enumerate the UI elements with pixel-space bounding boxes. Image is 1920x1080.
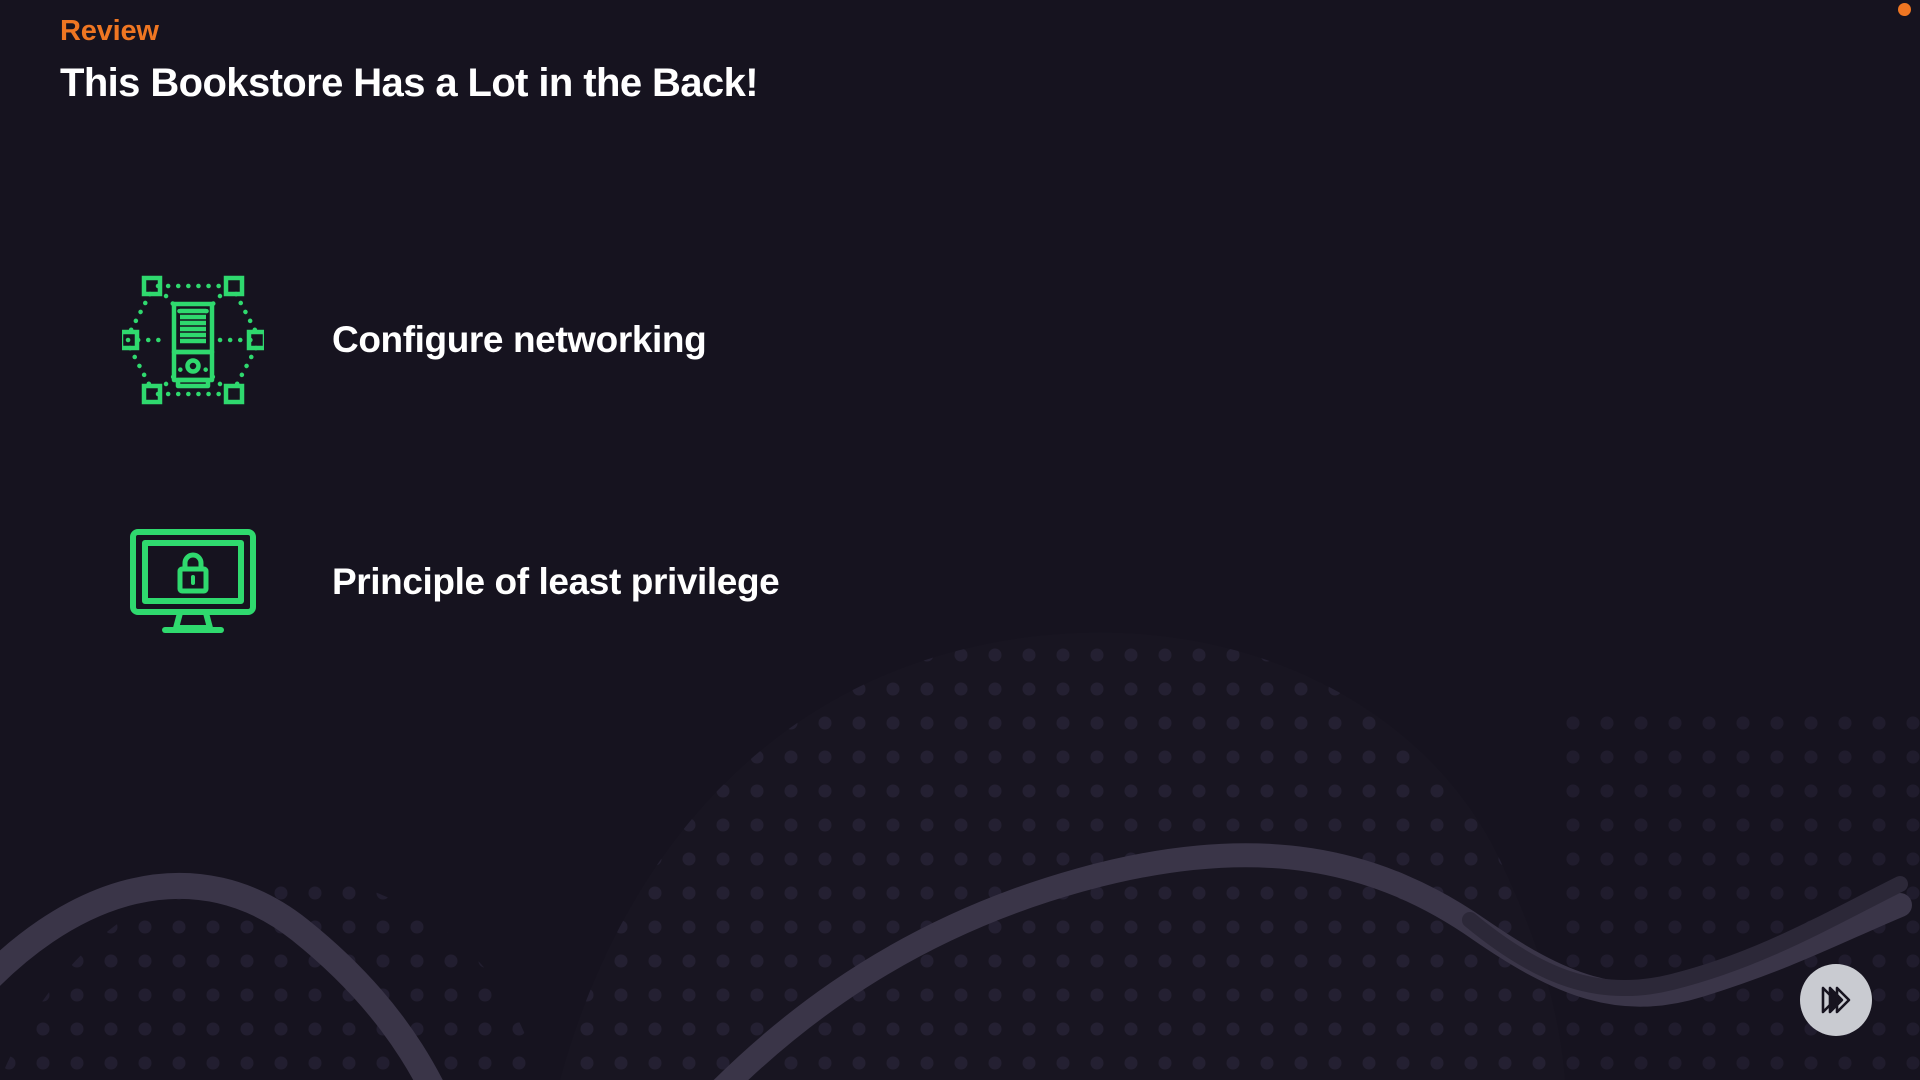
slide-header: Review This Bookstore Has a Lot in the B…	[60, 16, 758, 108]
halftone-blob-small	[0, 840, 600, 1080]
padlock-icon	[180, 555, 206, 591]
list-item-label: Configure networking	[332, 319, 706, 361]
slide-canvas: Review This Bookstore Has a Lot in the B…	[0, 0, 1920, 1080]
list-item-label: Principle of least privilege	[332, 561, 779, 603]
play-forward-logo-icon[interactable]	[1800, 964, 1872, 1036]
list-item: Configure networking	[118, 265, 779, 415]
list-item: Principle of least privilege	[118, 507, 779, 657]
halftone-blob-wash	[560, 632, 1565, 1080]
halftone-blob-right	[1560, 700, 1920, 1080]
monitor-lock-icon	[118, 512, 268, 652]
eyebrow-label: Review	[60, 16, 758, 48]
review-points-list: Configure networking	[118, 265, 779, 657]
wave-line-right	[640, 855, 1900, 1080]
halftone-blob-large	[500, 600, 1620, 1080]
status-dot-icon	[1898, 3, 1911, 16]
page-title: This Bookstore Has a Lot in the Back!	[60, 58, 758, 108]
wave-line-left	[0, 886, 470, 1080]
network-server-hexagon-icon	[118, 270, 268, 410]
